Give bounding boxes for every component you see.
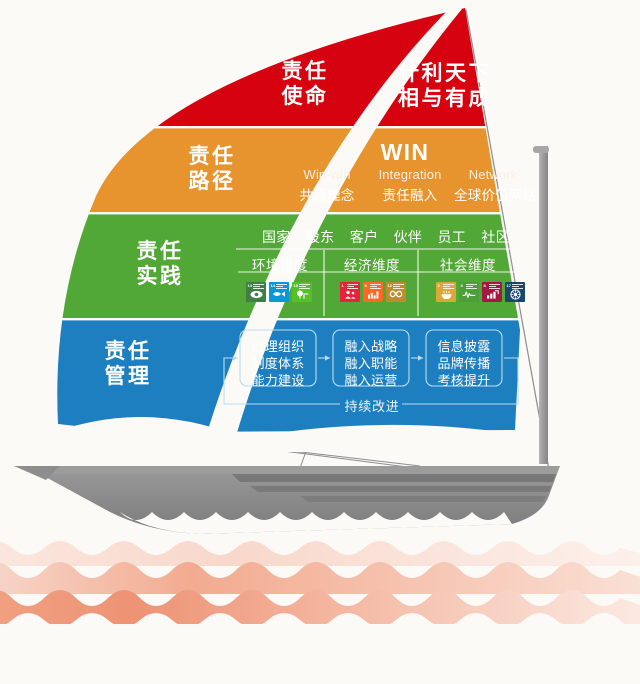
chart-icon bbox=[482, 288, 502, 303]
mission-slogan-line2: 相与有成 bbox=[370, 87, 520, 112]
stakeholder-item: 客户 bbox=[350, 227, 379, 247]
sdg-icon-2: 2 bbox=[436, 282, 456, 302]
management-left-line1: 责任 bbox=[78, 340, 178, 365]
boat-hull bbox=[14, 466, 560, 534]
wave-band-top bbox=[0, 541, 640, 566]
mission-left-label: 责任 使命 bbox=[250, 60, 360, 110]
practice-left-line2: 实践 bbox=[110, 265, 210, 290]
sdg-icon-9: 9 bbox=[363, 282, 383, 302]
sdg-icon-17: 17 bbox=[505, 282, 525, 302]
sdg-icon-1: 1 bbox=[340, 282, 360, 302]
win-pillar-1-en: Win-win bbox=[288, 167, 366, 182]
pdca-step-3-line3: 考核提升 bbox=[426, 372, 502, 389]
pdca-step-1-line1: 治理组织 bbox=[240, 338, 316, 355]
pdca-step-1-line2: 制度体系 bbox=[240, 355, 316, 372]
mission-left-line2: 使命 bbox=[250, 85, 360, 110]
stakeholder-item: 国家 bbox=[262, 227, 291, 247]
management-left-label: 责任 管理 bbox=[78, 340, 178, 390]
sailboat-artboard: 责任 使命 计利天下 相与有成 责任 路径 WIN Win-win Integr… bbox=[0, 0, 640, 684]
wave-band-middle bbox=[0, 562, 640, 594]
continuous-improvement-label: 持续改进 bbox=[342, 396, 402, 415]
practice-left-line1: 责任 bbox=[110, 240, 210, 265]
dimension-title-social: 社会维度 bbox=[420, 254, 516, 274]
pdca-step-3-line2: 品牌传播 bbox=[426, 355, 502, 372]
pdca-step-2-text: 融入战略 融入职能 融入运营 bbox=[333, 338, 409, 389]
stakeholder-item: 伙伴 bbox=[394, 227, 423, 247]
circle-icon bbox=[505, 288, 525, 303]
dimension-title-environment: 环境维度 bbox=[238, 254, 322, 274]
win-pillars-en-row: Win-win Integration Network bbox=[288, 167, 532, 182]
practice-left-label: 责任 实践 bbox=[110, 240, 210, 290]
mission-slogan: 计利天下 相与有成 bbox=[370, 62, 520, 112]
eye-icon bbox=[246, 288, 266, 303]
win-pillar-1-cn: 共赢理念 bbox=[288, 184, 366, 204]
heartbeat-icon bbox=[459, 288, 479, 303]
win-title: WIN bbox=[330, 139, 480, 166]
sdg-icon-3: 3 bbox=[459, 282, 479, 302]
water-waves bbox=[0, 541, 640, 684]
path-left-label: 责任 路径 bbox=[162, 145, 262, 195]
pdca-step-3-text: 信息披露 品牌传播 考核提升 bbox=[426, 338, 502, 389]
management-left-line2: 管理 bbox=[78, 365, 178, 390]
win-pillars-cn-row: 共赢理念 责任融入 全球价值网络 bbox=[288, 184, 532, 204]
stakeholder-row: 国家 股东 客户 伙伴 员工 社区 bbox=[262, 227, 510, 247]
pdca-step-3-line1: 信息披露 bbox=[426, 338, 502, 355]
fish-icon bbox=[269, 288, 289, 303]
pdca-step-2-line1: 融入战略 bbox=[333, 338, 409, 355]
factory-icon bbox=[363, 288, 383, 303]
sdg-icon-15: 15 bbox=[292, 282, 312, 302]
stakeholder-item: 员工 bbox=[438, 227, 467, 247]
win-pillar-3-cn: 全球价值网络 bbox=[454, 184, 532, 204]
people-icon bbox=[340, 288, 360, 303]
path-left-line1: 责任 bbox=[162, 145, 262, 170]
pdca-step-1-line3: 能力建设 bbox=[240, 372, 316, 389]
mission-slogan-line1: 计利天下 bbox=[370, 62, 520, 87]
stakeholder-item: 社区 bbox=[481, 227, 510, 247]
sdg-icon-8: 8 bbox=[482, 282, 502, 302]
sdg-row-economic: 1 9 12 bbox=[340, 282, 406, 302]
sdg-row-environment: 13 14 15 bbox=[246, 282, 312, 302]
win-pillar-2-en: Integration bbox=[366, 167, 454, 182]
bowl-icon bbox=[436, 288, 456, 303]
sdg-row-social: 2 3 8 17 bbox=[436, 282, 525, 302]
win-pillar-2-cn: 责任融入 bbox=[366, 184, 454, 204]
pdca-step-2-line2: 融入职能 bbox=[333, 355, 409, 372]
infinity-icon bbox=[386, 288, 406, 303]
pdca-step-2-line3: 融入运营 bbox=[333, 372, 409, 389]
sdg-icon-12: 12 bbox=[386, 282, 406, 302]
tree-icon bbox=[292, 288, 312, 303]
dimension-title-economic: 经济维度 bbox=[328, 254, 416, 274]
path-left-line2: 路径 bbox=[162, 170, 262, 195]
win-pillar-3-en: Network bbox=[454, 167, 532, 182]
mission-left-line1: 责任 bbox=[250, 60, 360, 85]
infographic-canvas: 责任 使命 计利天下 相与有成 责任 路径 WIN Win-win Integr… bbox=[0, 0, 640, 684]
sdg-icon-14: 14 bbox=[269, 282, 289, 302]
sdg-icon-13: 13 bbox=[246, 282, 266, 302]
stakeholder-item: 股东 bbox=[306, 227, 335, 247]
pdca-step-1-text: 治理组织 制度体系 能力建设 bbox=[240, 338, 316, 389]
